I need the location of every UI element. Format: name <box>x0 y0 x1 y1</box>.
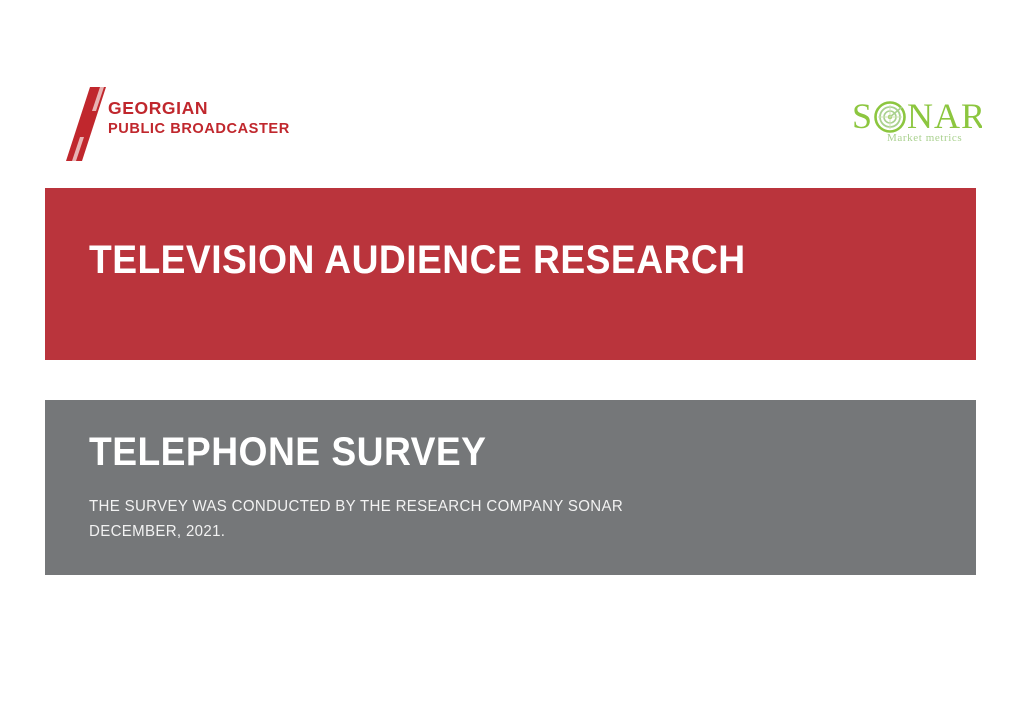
svg-text:S: S <box>852 96 872 136</box>
sonar-wordmark-with-radar-icon: S NAR Market metrics <box>852 96 982 146</box>
subtitle-line-2: DECEMBER, 2021. <box>89 519 884 544</box>
radar-target-icon <box>876 103 905 132</box>
subtitle-line-1: THE SURVEY WAS CONDUCTED BY THE RESEARCH… <box>89 494 884 519</box>
gpb-name-line1: GEORGIAN <box>108 99 290 119</box>
svg-text:Market metrics: Market metrics <box>887 132 962 144</box>
gpb-name-line2: PUBLIC BROADCASTER <box>108 121 290 138</box>
secondary-banner-subtitle: THE SURVEY WAS CONDUCTED BY THE RESEARCH… <box>89 494 909 544</box>
gpb-wordmark: GEORGIAN PUBLIC BROADCASTER <box>108 99 290 138</box>
slide-root: GEORGIAN PUBLIC BROADCASTER S <box>0 0 1024 717</box>
sonar-logo: S NAR Market metrics <box>852 96 982 146</box>
primary-banner-title: TELEVISION AUDIENCE RESEARCH <box>89 240 746 280</box>
secondary-banner-title: TELEPHONE SURVEY <box>89 432 486 472</box>
primary-banner: TELEVISION AUDIENCE RESEARCH <box>45 188 976 360</box>
svg-text:NAR: NAR <box>907 96 982 136</box>
gpb-parallelogram-icon <box>60 85 112 163</box>
gpb-logo: GEORGIAN PUBLIC BROADCASTER <box>60 85 290 163</box>
secondary-banner: TELEPHONE SURVEY THE SURVEY WAS CONDUCTE… <box>45 400 976 575</box>
